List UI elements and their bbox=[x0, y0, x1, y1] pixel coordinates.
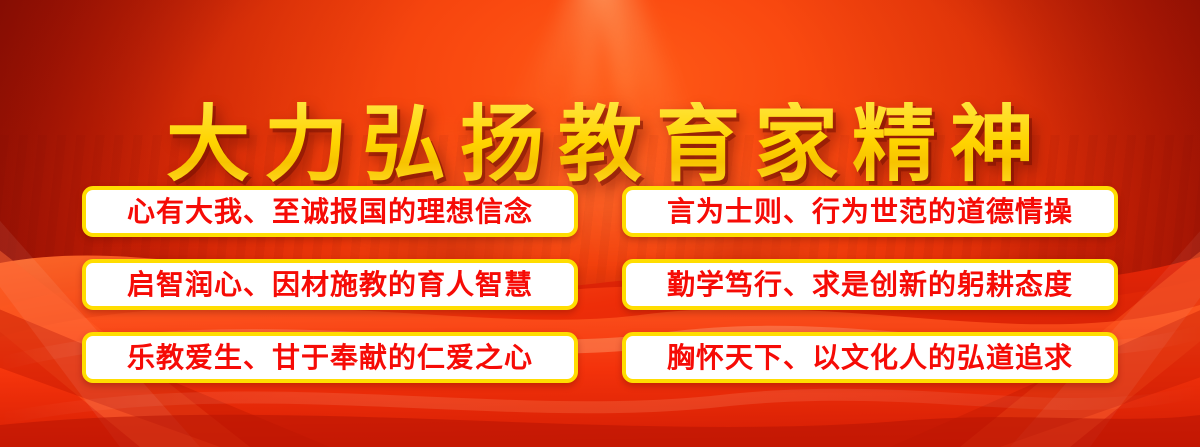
slogan-box-benevolent-heart: 乐教爱生、甘于奉献的仁爱之心 bbox=[82, 332, 578, 383]
page-title: 大力弘扬教育家精神 bbox=[0, 102, 1200, 186]
slogan-text: 胸怀天下、以文化人的弘道追求 bbox=[667, 344, 1073, 372]
education-spirit-banner: 大力弘扬教育家精神 心有大我、至诚报国的理想信念 言为士则、行为世范的道德情操 … bbox=[0, 0, 1200, 447]
slogan-grid: 心有大我、至诚报国的理想信念 言为士则、行为世范的道德情操 启智润心、因材施教的… bbox=[82, 186, 1118, 383]
slogan-text: 勤学笃行、求是创新的躬耕态度 bbox=[667, 271, 1073, 299]
slogan-box-ideal-belief: 心有大我、至诚报国的理想信念 bbox=[82, 186, 578, 237]
slogan-text: 言为士则、行为世范的道德情操 bbox=[667, 198, 1073, 226]
slogan-text: 心有大我、至诚报国的理想信念 bbox=[127, 198, 533, 226]
slogan-box-moral-sentiment: 言为士则、行为世范的道德情操 bbox=[622, 186, 1118, 237]
slogan-text: 启智润心、因材施教的育人智慧 bbox=[127, 271, 533, 299]
slogan-text: 乐教爱生、甘于奉献的仁爱之心 bbox=[127, 344, 533, 372]
slogan-box-dao-pursuit: 胸怀天下、以文化人的弘道追求 bbox=[622, 332, 1118, 383]
slogan-box-diligent-attitude: 勤学笃行、求是创新的躬耕态度 bbox=[622, 259, 1118, 310]
slogan-box-teaching-wisdom: 启智润心、因材施教的育人智慧 bbox=[82, 259, 578, 310]
